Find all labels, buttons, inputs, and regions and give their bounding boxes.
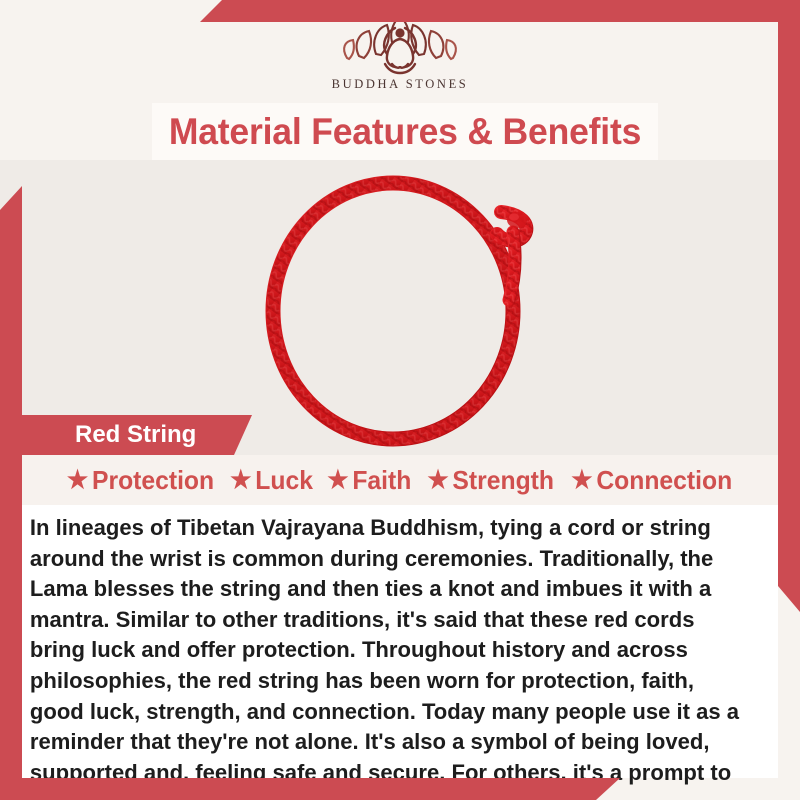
frame-accent-right [778, 0, 800, 612]
benefit-label: Strength [452, 465, 554, 496]
description-paragraph: In lineages of Tibetan Vajrayana Buddhis… [22, 505, 767, 800]
page-title: Material Features & Benefits [169, 111, 641, 153]
benefit-item: ★ Faith [328, 465, 412, 496]
benefit-item: ★ Strength [427, 465, 554, 496]
benefit-label: Protection [92, 465, 214, 496]
material-name-label: Red String [75, 421, 196, 449]
benefit-label: Luck [256, 465, 314, 496]
brand-wordmark: BUDDHA STONES [300, 77, 500, 92]
lotus-meditation-icon [335, 14, 465, 76]
material-name-ribbon: Red String [22, 415, 252, 455]
title-banner: Material Features & Benefits [152, 103, 658, 160]
star-icon: ★ [230, 468, 251, 493]
brand-logo: BUDDHA STONES [300, 14, 500, 92]
star-icon: ★ [427, 468, 448, 493]
benefit-label: Connection [597, 465, 733, 496]
infographic-page: BUDDHA STONES Material Features & Benefi… [0, 0, 800, 800]
frame-accent-left [0, 186, 22, 800]
star-icon: ★ [67, 468, 88, 493]
benefit-item: ★ Luck [230, 465, 313, 496]
description-section: In lineages of Tibetan Vajrayana Buddhis… [22, 505, 778, 778]
benefit-item: ★ Connection [572, 465, 733, 496]
star-icon: ★ [328, 468, 349, 493]
benefit-item: ★ Protection [67, 465, 214, 496]
benefits-strip: ★ Protection ★ Luck ★ Faith ★ Strength ★… [22, 455, 778, 505]
benefit-label: Faith [353, 465, 412, 496]
red-string-bracelet-image [225, 168, 575, 458]
star-icon: ★ [572, 468, 593, 493]
frame-accent-bottom [0, 778, 620, 800]
